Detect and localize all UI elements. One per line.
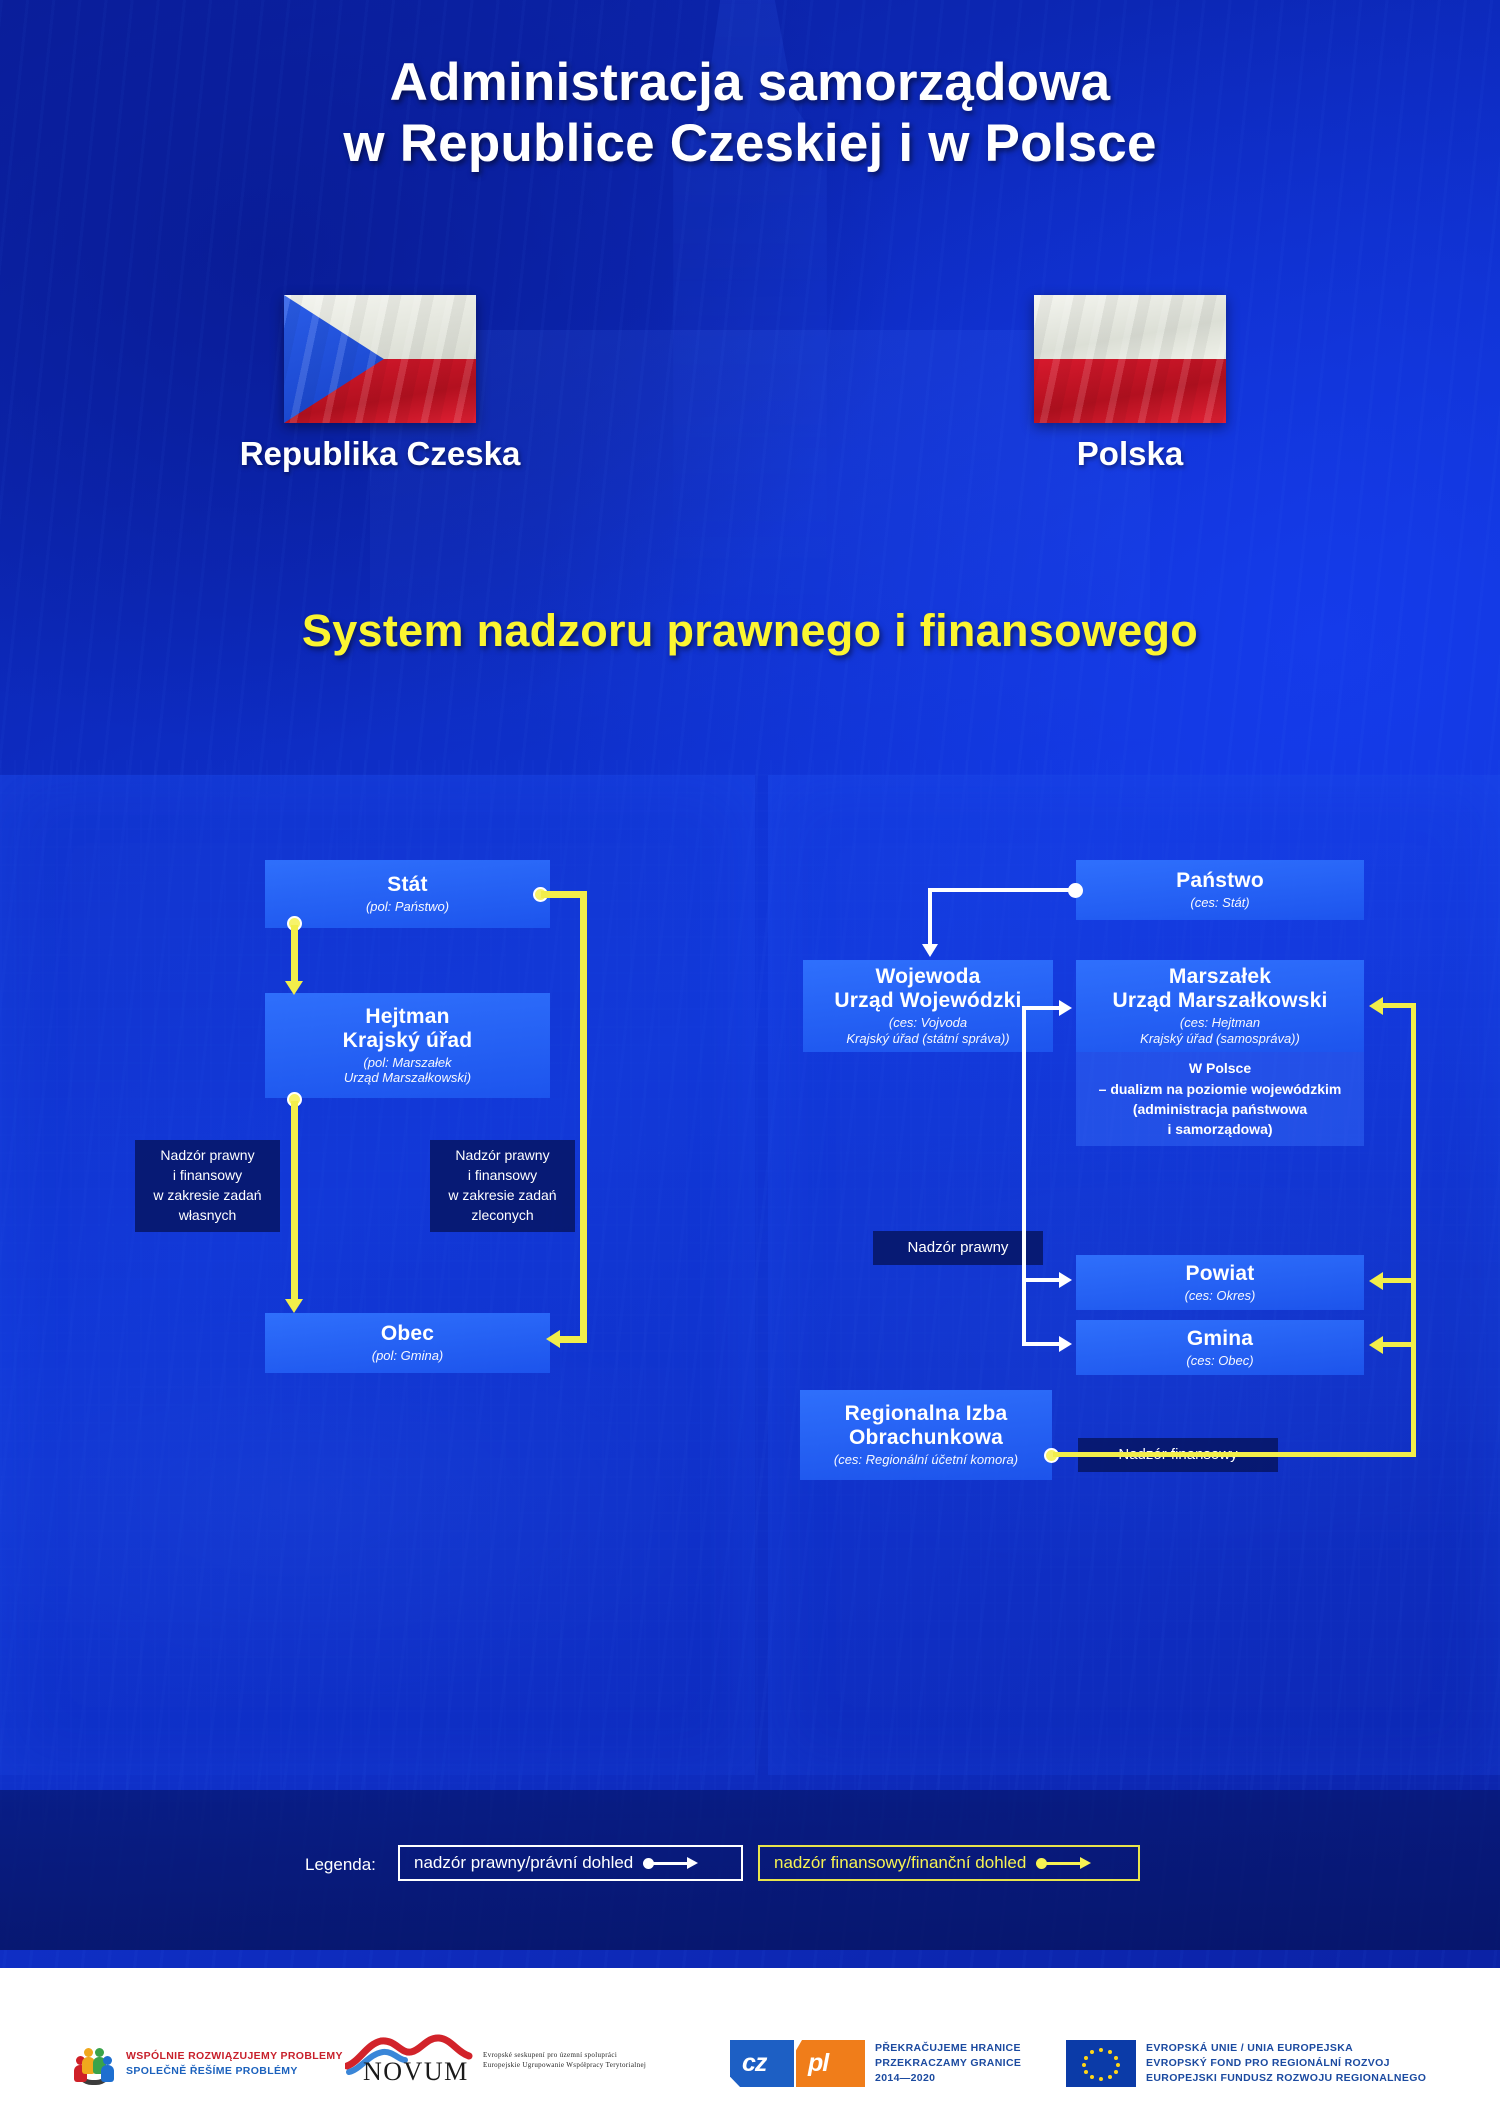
annotation-dualizm-l4: i samorządowa) [1167, 1119, 1272, 1139]
logo-novum-text: Evropské seskupení pro územní spolupráci… [483, 2050, 646, 2070]
poland-diagram-panel: Państwo (ces: Stát) Wojewoda Urząd Wojew… [768, 775, 1500, 1775]
node-obec-subtitle: (pol: Gmina) [372, 1348, 444, 1364]
node-stat-title: Stát [387, 873, 427, 897]
financial-arrow-icon [1036, 1857, 1094, 1869]
czech-flag-icon [284, 295, 476, 423]
legend-item-legal[interactable]: nadzór prawny/právní dohled [398, 1845, 743, 1881]
edge-arrow-panstwo-wojewoda [922, 944, 938, 957]
node-rio-title-2: Obrachunkowa [849, 1426, 1003, 1450]
novum-mountain-icon: NOVUM [345, 2032, 473, 2088]
logo-eu-line-3: EUROPEJSKI FUNDUSZ ROZWOJU REGIONALNEGO [1146, 2071, 1426, 2086]
node-marszalek-title-2: Urząd Marszałkowski [1112, 989, 1327, 1013]
node-marszalek[interactable]: Marszałek Urząd Marszałkowski (ces: Hejt… [1076, 960, 1364, 1052]
annotation-nadzor-prawny: Nadzór prawny [873, 1231, 1043, 1265]
node-obec-title: Obec [381, 1322, 434, 1346]
logo-wspolnie-line-2: SPOLEČNĚ ŘEŠÍME PROBLÉMY [126, 2064, 343, 2079]
node-rio-title-1: Regionalna Izba [845, 1402, 1008, 1426]
node-powiat-subtitle: (ces: Okres) [1185, 1288, 1256, 1304]
annotation-dualizm-l1: W Polsce [1189, 1058, 1251, 1078]
node-rio-subtitle: (ces: Regionální účetní komora) [834, 1452, 1018, 1468]
logo-eu-text: EVROPSKÁ UNIE / UNIA EUROPEJSKA EVROPSKÝ… [1146, 2041, 1426, 2087]
czpl-pl-label: pl [808, 2049, 828, 2078]
annotation-wlasnych: Nadzór prawny i finansowy w zakresie zad… [135, 1140, 280, 1232]
novum-wordmark: NOVUM [363, 2057, 469, 2087]
node-gmina-title: Gmina [1187, 1327, 1253, 1351]
country-label-czech: Republika Czeska [120, 435, 640, 473]
node-powiat[interactable]: Powiat (ces: Okres) [1076, 1255, 1364, 1310]
node-hejtman-subtitle-1: (pol: Marszałek [363, 1055, 451, 1071]
annotation-zleconych: Nadzór prawny i finansowy w zakresie zad… [430, 1140, 575, 1232]
flag-wave-texture [1034, 295, 1226, 423]
logo-wspolnie-text: WSPÓLNIE ROZWIĄZUJEMY PROBLEMY SPOLEČNĚ … [126, 2049, 343, 2079]
node-panstwo[interactable]: Państwo (ces: Stát) [1076, 860, 1364, 920]
edge-arrow-wojewoda-marszalek [1059, 1000, 1072, 1016]
edge-bus-rio-v [1411, 1003, 1416, 1457]
polish-flag-icon [1034, 295, 1226, 423]
legal-arrow-icon [643, 1857, 701, 1869]
edge-arrow-wojewoda-gmina [1059, 1336, 1072, 1352]
legend-label: Legenda: [305, 1855, 376, 1875]
edge-line-stat-obec-v [580, 891, 587, 1343]
edge-line-stat-obec-h2 [558, 1336, 587, 1343]
logo-eu-line-2: EVROPSKÝ FOND PRO REGIONÁLNÍ ROZVOJ [1146, 2056, 1426, 2071]
logo-czpl-line-1: PŘEKRAČUJEME HRANICE [875, 2041, 1021, 2056]
node-hejtman-subtitle-2: Urząd Marszałkowski) [344, 1070, 471, 1086]
node-hejtman-title-1: Hejtman [365, 1005, 449, 1029]
title-line-1: Administracja samorządowa [0, 52, 1500, 113]
edge-line-panstwo-wojewoda-h [928, 888, 1072, 892]
title-line-2: w Republice Czeskiej i w Polsce [0, 113, 1500, 174]
node-powiat-title: Powiat [1186, 1262, 1255, 1286]
node-obec[interactable]: Obec (pol: Gmina) [265, 1313, 550, 1373]
page-subtitle: System nadzoru prawnego i finansowego [0, 605, 1500, 657]
edge-line-wojewoda-marszalek [1022, 1006, 1060, 1010]
node-stat-subtitle: (pol: Państwo) [366, 899, 449, 915]
node-wojewoda-subtitle-1: (ces: Vojvoda [889, 1015, 967, 1031]
annotation-wlasnych-l2: i finansowy [173, 1166, 242, 1186]
logo-wspolnie: WSPÓLNIE ROZWIĄZUJEMY PROBLEMY SPOLEČNĚ … [72, 2042, 343, 2086]
edge-line-rio-powiat [1381, 1278, 1416, 1283]
edge-arrow-stat-obec [546, 1330, 560, 1348]
logo-czpl-line-2: PRZEKRACZAMY GRANICE [875, 2056, 1021, 2071]
node-marszalek-subtitle-2: Krajský úřad (samospráva)) [1140, 1031, 1300, 1047]
node-panstwo-title: Państwo [1176, 869, 1264, 893]
infographic-poster: Administracja samorządowa w Republice Cz… [0, 0, 1500, 2123]
legend-item-financial-label: nadzór finansowy/finanční dohled [774, 1853, 1026, 1873]
edge-arrow-wojewoda-powiat [1059, 1272, 1072, 1288]
page-title: Administracja samorządowa w Republice Cz… [0, 52, 1500, 175]
edge-bus-wojewoda [1022, 1006, 1026, 1346]
annotation-wlasnych-l4: własnych [179, 1206, 237, 1226]
country-label-poland: Polska [870, 435, 1390, 473]
annotation-wlasnych-l3: w zakresie zadań [153, 1186, 261, 1206]
node-wojewoda-title-2: Urząd Wojewódzki [834, 989, 1021, 1013]
edge-arrow-hejtman-obec [285, 1299, 303, 1313]
node-hejtman-title-2: Krajský úřad [343, 1029, 473, 1053]
edge-line-hejtman-obec [291, 1101, 298, 1301]
annotation-dualizm-l3: (administracja państwowa [1133, 1099, 1307, 1119]
eu-flag-icon [1066, 2040, 1136, 2087]
node-wojewoda-subtitle-2: Krajský úřad (státní správa)) [846, 1031, 1009, 1047]
logo-european-union: EVROPSKÁ UNIE / UNIA EUROPEJSKA EVROPSKÝ… [1066, 2040, 1426, 2087]
node-gmina-subtitle: (ces: Obec) [1186, 1353, 1253, 1369]
annotation-zleconych-l3: w zakresie zadań [448, 1186, 556, 1206]
logo-eu-line-1: EVROPSKÁ UNIE / UNIA EUROPEJSKA [1146, 2041, 1426, 2056]
node-regionalna-izba-obrachunkowa[interactable]: Regionalna Izba Obrachunkowa (ces: Regio… [800, 1390, 1052, 1480]
flag-wave-texture [284, 295, 476, 423]
diagram-panels: Stát (pol: Państwo) Hejtman Krajský úřad… [0, 775, 1500, 1775]
node-marszalek-title-1: Marszałek [1169, 965, 1271, 989]
czpl-cz-label: cz [742, 2049, 766, 2078]
edge-line-rio-marszalek [1381, 1003, 1416, 1008]
annotation-zleconych-l2: i finansowy [468, 1166, 537, 1186]
edge-arrow-rio-powiat [1369, 1272, 1383, 1290]
node-wojewoda[interactable]: Wojewoda Urząd Wojewódzki (ces: Vojvoda … [803, 960, 1053, 1052]
node-marszalek-subtitle-1: (ces: Hejtman [1180, 1015, 1260, 1031]
czech-diagram-panel: Stát (pol: Państwo) Hejtman Krajský úřad… [0, 775, 755, 1775]
logo-czpl: cz pl PŘEKRAČUJEME HRANICE PRZEKRACZAMY … [730, 2040, 1021, 2087]
edge-arrow-stat-hejtman [285, 981, 303, 995]
logo-czpl-text: PŘEKRAČUJEME HRANICE PRZEKRACZAMY GRANIC… [875, 2041, 1021, 2087]
annotation-zleconych-l1: Nadzór prawny [455, 1146, 549, 1166]
edge-line-rio-h [1053, 1452, 1416, 1457]
edge-line-wojewoda-gmina [1022, 1342, 1060, 1346]
legend-item-legal-label: nadzór prawny/právní dohled [414, 1853, 633, 1873]
node-hejtman[interactable]: Hejtman Krajský úřad (pol: Marszałek Urz… [265, 993, 550, 1098]
logo-novum-line-2: Europejskie Ugrupowanie Współpracy Teryt… [483, 2060, 646, 2070]
node-wojewoda-title-1: Wojewoda [875, 965, 980, 989]
edge-arrow-rio-gmina [1369, 1336, 1383, 1354]
legend-item-financial[interactable]: nadzór finansowy/finanční dohled [758, 1845, 1140, 1881]
annotation-wlasnych-l1: Nadzór prawny [160, 1146, 254, 1166]
legend-bar [0, 1790, 1500, 1950]
logo-czpl-line-3: 2014—2020 [875, 2071, 1021, 2086]
node-stat[interactable]: Stát (pol: Państwo) [265, 860, 550, 928]
annotation-dualizm-l2: – dualizm na poziomie wojewódzkim [1099, 1079, 1342, 1099]
logo-novum: NOVUM Evropské seskupení pro územní spol… [345, 2032, 646, 2088]
edge-line-rio-gmina [1381, 1342, 1416, 1347]
edge-line-stat-hejtman [291, 925, 298, 987]
node-panstwo-subtitle: (ces: Stát) [1190, 895, 1249, 911]
czpl-blocks-icon: cz pl [730, 2040, 865, 2087]
edge-line-wojewoda-powiat [1022, 1278, 1060, 1282]
node-gmina[interactable]: Gmina (ces: Obec) [1076, 1320, 1364, 1375]
people-circle-icon [72, 2042, 116, 2086]
annotation-zleconych-l4: zleconych [471, 1206, 533, 1226]
logo-novum-line-1: Evropské seskupení pro územní spolupráci [483, 2050, 646, 2060]
edge-line-panstwo-wojewoda-v [928, 888, 932, 946]
logo-wspolnie-line-1: WSPÓLNIE ROZWIĄZUJEMY PROBLEMY [126, 2049, 343, 2064]
edge-arrow-rio-marszalek [1369, 997, 1383, 1015]
poster-header: Administracja samorządowa w Republice Cz… [0, 0, 1500, 775]
annotation-dualizm: W Polsce – dualizm na poziomie wojewódzk… [1076, 1052, 1364, 1146]
